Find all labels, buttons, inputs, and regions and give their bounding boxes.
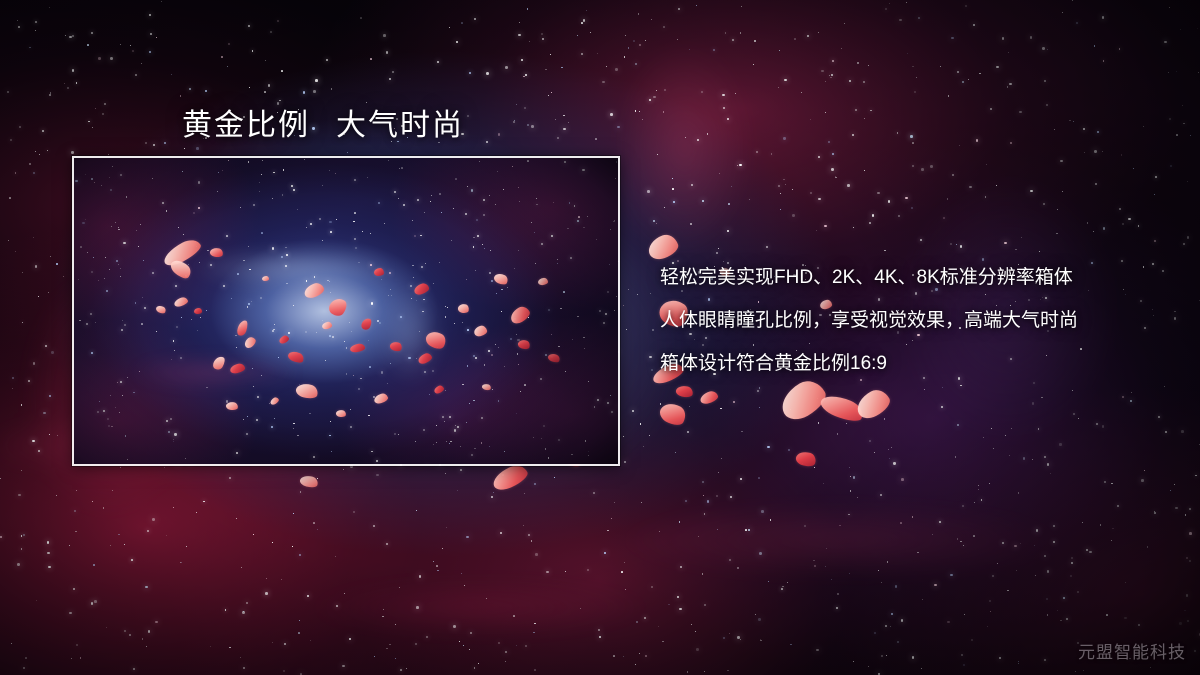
petal [699, 389, 720, 405]
title-part-two: 大气时尚 [336, 109, 464, 142]
body-text-block: 轻松完美实现FHD、2K、4K、8K标准分辨率箱体 人体眼睛瞳孔比例，享受视觉效… [660, 256, 1180, 385]
framed-preview-panel[interactable] [72, 156, 620, 466]
petal [852, 385, 893, 422]
slide-stage: 黄金比例大气时尚 轻松完美实现FHD、2K、4K、8K标准分辨率箱体 人体眼睛瞳… [0, 0, 1200, 675]
petal [490, 462, 531, 494]
watermark-label: 元盟智能科技 [1078, 638, 1186, 663]
petal [657, 399, 689, 429]
title-part-one: 黄金比例 [182, 109, 310, 142]
page-title: 黄金比例大气时尚 [182, 100, 464, 144]
petal [299, 474, 319, 489]
panel-vignette [74, 158, 618, 464]
body-line-1: 轻松完美实现FHD、2K、4K、8K标准分辨率箱体 [660, 256, 1180, 299]
petal [675, 384, 694, 398]
petal [794, 450, 817, 469]
body-line-3: 箱体设计符合黄金比例16:9 [660, 342, 1180, 385]
petal [818, 390, 866, 425]
body-line-2: 人体眼睛瞳孔比例，享受视觉效果，高端大气时尚 [660, 299, 1180, 342]
